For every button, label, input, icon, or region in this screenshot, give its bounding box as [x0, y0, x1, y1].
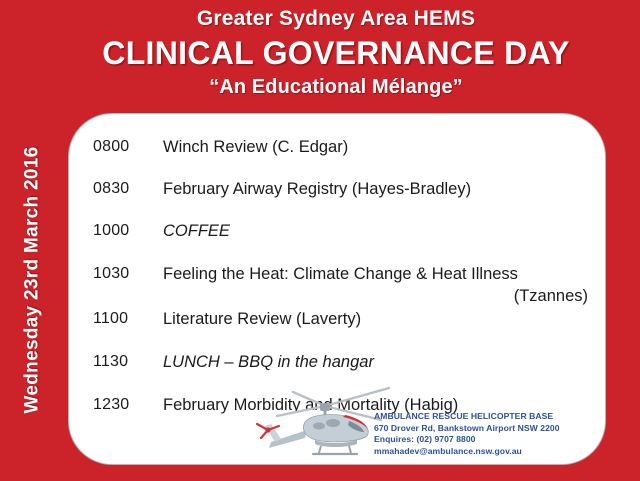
row-time: 0830: [93, 179, 153, 199]
poster-header: Greater Sydney Area HEMS CLINICAL GOVERN…: [62, 4, 610, 101]
row-time: 1130: [93, 352, 153, 372]
contact-address: 670 Drover Rd, Bankstown Airport NSW 220…: [374, 423, 560, 435]
schedule-card: 0800 Winch Review (C. Edgar) 0830 Februa…: [68, 113, 606, 465]
page-title: CLINICAL GOVERNANCE DAY: [62, 34, 610, 73]
contact-email: mmahadev@ambulance.nsw.gov.au: [374, 446, 560, 458]
header-subtitle: “An Educational Mélange”: [62, 73, 610, 101]
row-description: February Airway Registry (Hayes-Bradley): [163, 179, 593, 199]
row-presenter: (Tzannes): [163, 286, 588, 306]
row-time: 1100: [93, 309, 153, 329]
contact-block: AMBULANCE RESCUE HELICOPTER BASE 670 Dro…: [374, 411, 560, 457]
row-time: 1230: [93, 395, 153, 415]
row-description: Feeling the Heat: Climate Change & Heat …: [163, 264, 593, 284]
row-description: Winch Review (C. Edgar): [163, 137, 593, 157]
row-time: 0800: [93, 137, 153, 157]
row-time: 1000: [93, 221, 153, 241]
event-date: Wednesday 23rd March 2016: [21, 147, 43, 414]
header-organisation: Greater Sydney Area HEMS: [62, 4, 610, 34]
row-description: LUNCH – BBQ in the hangar: [163, 352, 593, 372]
date-sidebar: Wednesday 23rd March 2016: [0, 120, 64, 440]
contact-phone: Enquires: (02) 9707 8800: [374, 434, 560, 446]
contact-organisation: AMBULANCE RESCUE HELICOPTER BASE: [374, 411, 560, 423]
row-description: COFFEE: [163, 221, 593, 241]
schedule-list: 0800 Winch Review (C. Edgar) 0830 Februa…: [69, 114, 605, 464]
row-time: 1030: [93, 264, 153, 284]
row-description: Literature Review (Laverty): [163, 309, 593, 329]
poster-canvas: Greater Sydney Area HEMS CLINICAL GOVERN…: [0, 0, 640, 481]
